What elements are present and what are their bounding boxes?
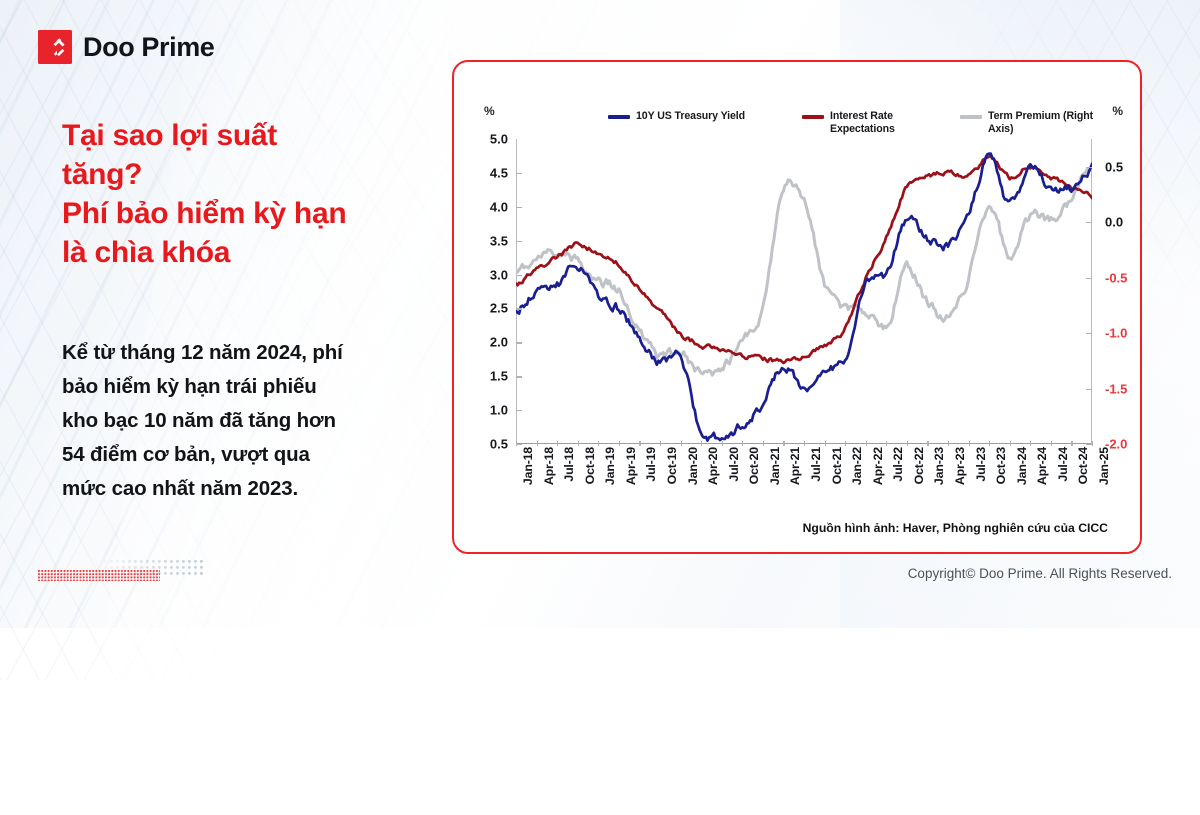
x-axis-tick-mark <box>927 441 928 446</box>
decorative-dot-bar <box>38 568 203 582</box>
x-axis-tick-label: Apr-24 <box>1035 447 1049 485</box>
body-line: Kể từ tháng 12 năm 2024, phí <box>62 336 430 370</box>
left-axis-tick-mark <box>516 241 522 242</box>
x-axis-tick-mark <box>804 441 805 446</box>
x-axis-tick-mark <box>639 441 640 446</box>
legend-label: Term Premium (Right Axis) <box>988 110 1100 136</box>
x-axis-tick-mark <box>886 441 887 446</box>
chart-lines <box>516 139 1092 444</box>
left-axis-tick-label: 2.5 <box>490 301 508 316</box>
x-axis-labels: Jan-18Apr-18Jul-18Oct-18Jan-19Apr-19Jul-… <box>516 447 1092 513</box>
legend-label: 10Y US Treasury Yield <box>636 110 745 123</box>
x-axis-tick-label: Oct-20 <box>747 447 761 484</box>
x-axis-tick-label: Oct-21 <box>830 447 844 484</box>
left-axis-tick-mark <box>516 173 522 174</box>
red-dot-pattern-icon <box>38 570 160 581</box>
brand-logo: Doo Prime <box>38 30 214 64</box>
headline-line: Phí bảo hiểm kỳ hạn <box>62 194 454 233</box>
left-axis-tick-label: 3.5 <box>490 233 508 248</box>
x-axis-tick-label: Jul-19 <box>644 447 658 482</box>
right-axis-unit: % <box>1112 104 1123 118</box>
x-axis-tick-label: Jan-18 <box>521 447 535 485</box>
right-axis-tick-mark <box>1086 167 1092 168</box>
x-axis-tick-label: Apr-19 <box>624 447 638 485</box>
x-axis-tick-mark <box>660 441 661 446</box>
doo-prime-logo-mark-icon <box>38 30 72 64</box>
left-axis-tick-mark <box>516 308 522 309</box>
left-axis-tick-label: 4.0 <box>490 199 508 214</box>
legend-item-rate-expectations: Interest Rate Expectations <box>802 110 917 136</box>
body-line: kho bạc 10 năm đã tăng hơn <box>62 404 430 438</box>
x-axis-tick-label: Jul-20 <box>727 447 741 482</box>
x-axis-tick-mark <box>783 441 784 446</box>
series-line-rate-expectations <box>516 156 1092 363</box>
x-axis-tick-label: Oct-24 <box>1076 447 1090 484</box>
x-axis-tick-mark <box>1092 441 1093 446</box>
x-axis-tick-mark <box>763 441 764 446</box>
x-axis-tick-mark <box>907 441 908 446</box>
x-axis-tick-mark <box>722 441 723 446</box>
x-axis-tick-mark <box>1071 441 1072 446</box>
right-axis-tick-label: -1.0 <box>1105 326 1127 341</box>
body-line: mức cao nhất năm 2023. <box>62 472 430 506</box>
legend-swatch-icon <box>960 115 982 119</box>
left-axis-tick-label: 0.5 <box>490 437 508 452</box>
headline-line: là chìa khóa <box>62 233 454 272</box>
left-axis-tick-label: 2.0 <box>490 335 508 350</box>
left-axis-tick-label: 1.5 <box>490 369 508 384</box>
x-axis-tick-label: Apr-18 <box>542 447 556 485</box>
legend-swatch-icon <box>802 115 824 119</box>
x-axis-tick-label: Jul-23 <box>974 447 988 482</box>
right-axis-tick-label: 0.5 <box>1105 159 1123 174</box>
x-axis-tick-mark <box>948 441 949 446</box>
x-axis-tick-mark <box>598 441 599 446</box>
x-axis-tick-label: Jan-19 <box>603 447 617 485</box>
x-axis-tick-mark <box>825 441 826 446</box>
right-axis-tick-label: -0.5 <box>1105 270 1127 285</box>
chart-card: % % 10Y US Treasury Yield Interest Rate … <box>452 60 1142 554</box>
left-axis-tick-label: 4.5 <box>490 165 508 180</box>
body-line: bảo hiểm kỳ hạn trái phiếu <box>62 370 430 404</box>
x-axis-tick-label: Jul-21 <box>809 447 823 482</box>
x-axis-tick-label: Oct-23 <box>994 447 1008 484</box>
series-line-treasury-yield <box>516 154 1092 441</box>
left-axis-tick-mark <box>516 275 522 276</box>
x-axis-tick-label: Jul-22 <box>891 447 905 482</box>
x-axis-tick-label: Oct-22 <box>912 447 926 484</box>
left-axis-tick-label: 5.0 <box>490 132 508 147</box>
x-axis-tick-mark <box>619 441 620 446</box>
x-axis-tick-label: Jan-23 <box>932 447 946 485</box>
x-axis-tick-label: Apr-22 <box>871 447 885 485</box>
right-axis-tick-mark <box>1086 222 1092 223</box>
x-axis-tick-mark <box>557 441 558 446</box>
left-axis-tick-label: 1.0 <box>490 403 508 418</box>
body-line: 54 điểm cơ bản, vượt qua <box>62 438 430 472</box>
x-axis-tick-label: Apr-21 <box>788 447 802 485</box>
x-axis-tick-mark <box>701 441 702 446</box>
x-axis-tick-label: Jan-20 <box>686 447 700 485</box>
x-axis-tick-mark <box>1030 441 1031 446</box>
left-axis-tick-mark <box>516 207 522 208</box>
legend-swatch-icon <box>608 115 630 119</box>
x-axis-tick-mark <box>845 441 846 446</box>
x-axis-tick-label: Jan-22 <box>850 447 864 485</box>
left-axis-tick-mark <box>516 342 522 343</box>
legend-label: Interest Rate Expectations <box>830 110 917 136</box>
x-axis-tick-mark <box>1010 441 1011 446</box>
x-axis-tick-label: Jan-21 <box>768 447 782 485</box>
x-axis-tick-label: Jul-18 <box>562 447 576 482</box>
legend-item-term-premium: Term Premium (Right Axis) <box>960 110 1100 136</box>
chart-plot-area: 5.04.54.03.53.02.52.01.51.00.50.50.0-0.5… <box>516 139 1092 444</box>
brand-name: Doo Prime <box>83 32 214 63</box>
x-axis-tick-label: Oct-18 <box>583 447 597 484</box>
x-axis-tick-label: Oct-19 <box>665 447 679 484</box>
x-axis-tick-label: Apr-20 <box>706 447 720 485</box>
left-axis-unit: % <box>484 104 495 118</box>
right-axis-tick-mark <box>1086 278 1092 279</box>
left-axis-tick-label: 3.0 <box>490 267 508 282</box>
x-axis-tick-mark <box>681 441 682 446</box>
x-axis-tick-mark <box>742 441 743 446</box>
right-axis-tick-label: 0.0 <box>1105 215 1123 230</box>
headline-line: tăng? <box>62 155 454 194</box>
legend-item-treasury-yield: 10Y US Treasury Yield <box>608 110 745 123</box>
headline: Tại sao lợi suất tăng? Phí bảo hiểm kỳ h… <box>62 116 454 272</box>
left-axis-tick-mark <box>516 376 522 377</box>
headline-line: Tại sao lợi suất <box>62 116 454 155</box>
x-axis-tick-label: Jul-24 <box>1056 447 1070 482</box>
x-axis-tick-mark <box>866 441 867 446</box>
chart-source-note: Nguồn hình ảnh: Haver, Phòng nghiên cứu … <box>803 521 1108 535</box>
body-paragraph: Kể từ tháng 12 năm 2024, phí bảo hiểm kỳ… <box>62 336 430 506</box>
x-axis-tick-mark <box>989 441 990 446</box>
x-axis-tick-label: Jan-25 <box>1097 447 1111 485</box>
x-axis-tick-mark <box>537 441 538 446</box>
x-axis-tick-mark <box>578 441 579 446</box>
x-axis-tick-label: Apr-23 <box>953 447 967 485</box>
right-axis-tick-mark <box>1086 333 1092 334</box>
right-axis-tick-mark <box>1086 389 1092 390</box>
left-axis-tick-mark <box>516 410 522 411</box>
x-axis-tick-mark <box>969 441 970 446</box>
right-axis-tick-label: -1.5 <box>1105 381 1127 396</box>
x-axis-tick-mark <box>1051 441 1052 446</box>
x-axis-tick-mark <box>516 441 517 446</box>
copyright-notice: Copyright© Doo Prime. All Rights Reserve… <box>908 566 1172 581</box>
x-axis-tick-label: Jan-24 <box>1015 447 1029 485</box>
